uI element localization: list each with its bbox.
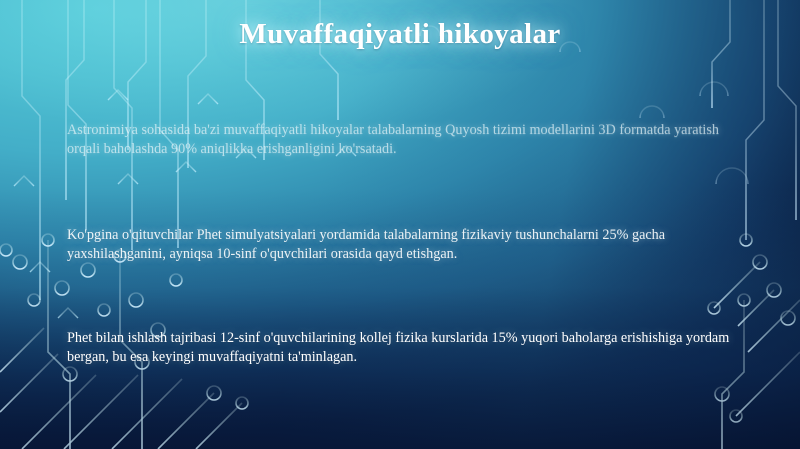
body-paragraph-1: Astronimiya sohasida ba'zi muvaffaqiyatl… (67, 121, 753, 159)
body-paragraph-3: Phet bilan ishlash tajribasi 12-sinf o'q… (67, 329, 753, 367)
page-title: Muvaffaqiyatli hikoyalar (0, 18, 800, 51)
slide-content: Muvaffaqiyatli hikoyalar Astronimiya soh… (0, 0, 800, 449)
slide-canvas: Muvaffaqiyatli hikoyalar Astronimiya soh… (0, 0, 800, 449)
body-paragraph-2: Ko'pgina o'qituvchilar Phet simulyatsiya… (67, 226, 753, 264)
